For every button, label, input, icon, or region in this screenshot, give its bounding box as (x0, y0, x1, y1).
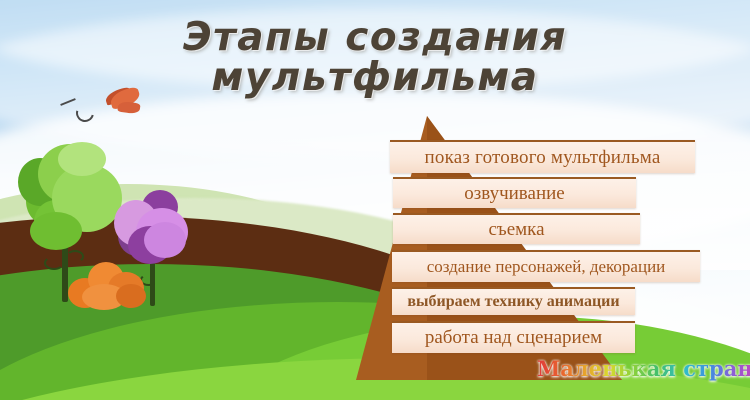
step-bar-characters-scenery[interactable]: создание персонажей, декорации (392, 250, 700, 282)
step-label: выбираем технику анимации (392, 293, 635, 311)
step-label: озвучивание (393, 183, 636, 205)
watermark: Маленькая страна.ру (537, 356, 750, 381)
step-bar-animation-technique[interactable]: выбираем технику анимации (392, 287, 635, 315)
step-bar-show-cartoon[interactable]: показ готового мультфильма (390, 140, 695, 173)
step-label: показ готового мультфильма (390, 147, 695, 169)
page-title: Этапы создания мультфильма (0, 18, 750, 98)
step-label: съемка (393, 219, 640, 241)
bush-icon (68, 258, 152, 312)
step-bar-script-work[interactable]: работа над сценарием (392, 321, 635, 353)
step-bar-shooting[interactable]: съемка (393, 213, 640, 244)
step-bar-voiceover[interactable]: озвучивание (393, 177, 636, 208)
step-label: создание персонажей, декорации (392, 257, 700, 277)
step-label: работа над сценарием (392, 327, 635, 349)
slide-canvas: Этапы создания мультфильма показ готовог… (0, 0, 750, 400)
